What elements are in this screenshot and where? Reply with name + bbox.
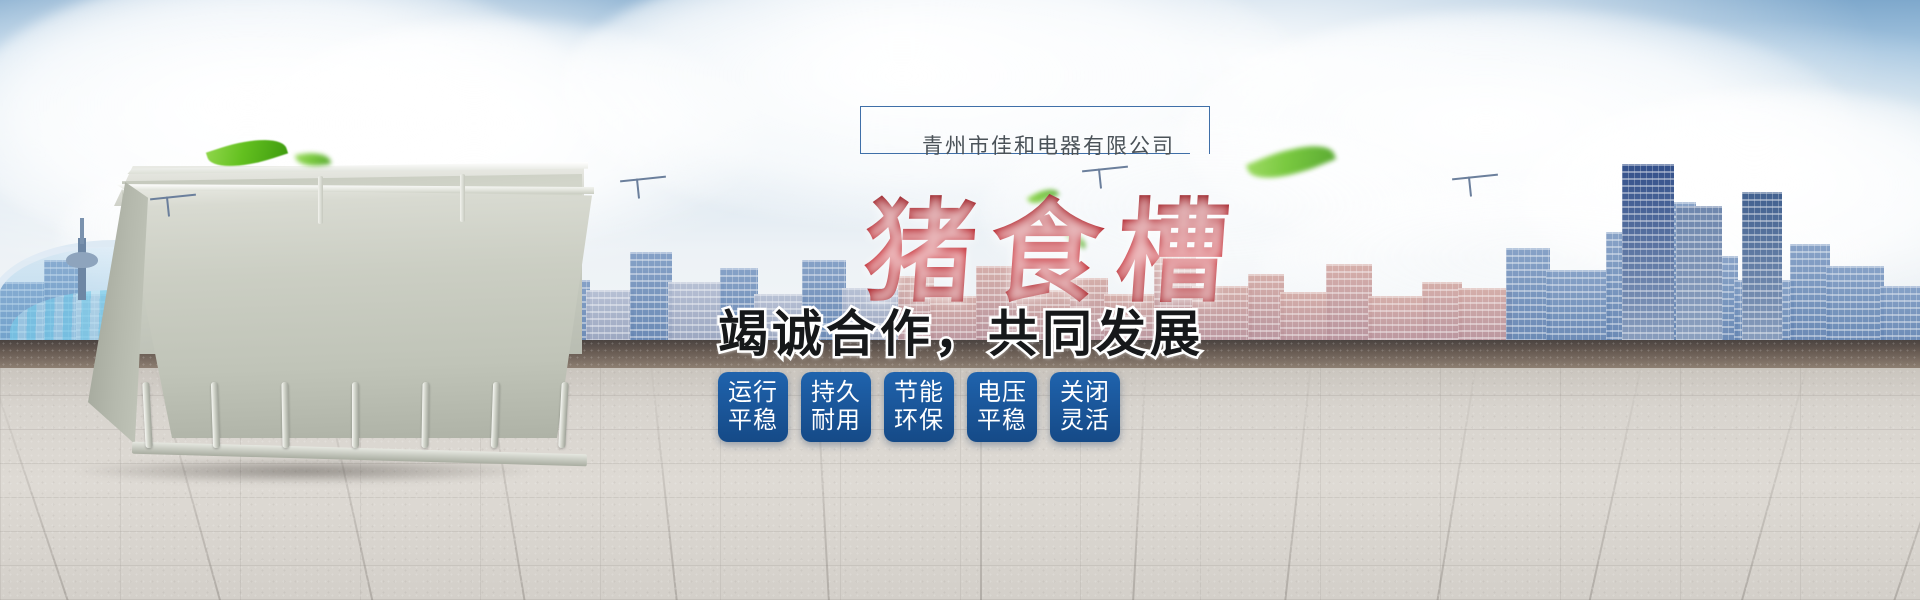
trough-divider-base: [132, 442, 587, 467]
feature-badge[interactable]: 关闭 灵活: [1050, 372, 1120, 442]
company-name: 青州市佳和电器有限公司: [922, 130, 1175, 160]
feature-badge-list: 运行 平稳 持久 耐用 节能 环保 电压 平稳 关闭 灵活: [718, 372, 1120, 442]
trough-divider: [352, 382, 359, 448]
trough-divider: [421, 382, 429, 448]
badge-line-1: 节能: [894, 379, 944, 407]
trough-divider: [558, 382, 568, 448]
banner-text-block: 青州市佳和电器有限公司 猪食槽 竭诚合作，共同发展 运行 平稳 持久 耐用 节能…: [700, 96, 1460, 556]
trough-divider: [142, 382, 152, 448]
trough-strut: [318, 176, 323, 224]
skyline-landmark-tower: [1742, 192, 1782, 352]
badge-line-1: 电压: [977, 379, 1027, 407]
badge-line-2: 平稳: [977, 407, 1027, 435]
trough-strut: [460, 174, 465, 222]
feature-badge[interactable]: 电压 平稳: [967, 372, 1037, 442]
skyline-building: [1506, 248, 1550, 352]
skyline-landmark-tower: [1622, 164, 1674, 352]
skyline-building: [630, 252, 672, 352]
badge-line-1: 持久: [811, 379, 861, 407]
feature-badge[interactable]: 节能 环保: [884, 372, 954, 442]
trough-divider-group: [138, 382, 578, 454]
feature-badge[interactable]: 运行 平稳: [718, 372, 788, 442]
trough-divider: [211, 382, 220, 448]
badge-line-1: 运行: [728, 379, 778, 407]
promo-banner: 青州市佳和电器有限公司 猪食槽 竭诚合作，共同发展 运行 平稳 持久 耐用 节能…: [0, 0, 1920, 600]
badge-line-2: 环保: [894, 407, 944, 435]
badge-line-2: 耐用: [811, 407, 861, 435]
skyline-landmark-tower: [1676, 206, 1722, 352]
trough-divider: [491, 382, 500, 448]
badge-line-2: 灵活: [1060, 407, 1110, 435]
badge-line-2: 平稳: [728, 407, 778, 435]
trough-divider: [281, 382, 289, 448]
badge-line-1: 关闭: [1060, 379, 1110, 407]
product-feeder-trough: [78, 160, 598, 480]
banner-subtitle: 竭诚合作，共同发展: [718, 294, 1204, 366]
feature-badge[interactable]: 持久 耐用: [801, 372, 871, 442]
skyline-building: [1790, 244, 1830, 352]
